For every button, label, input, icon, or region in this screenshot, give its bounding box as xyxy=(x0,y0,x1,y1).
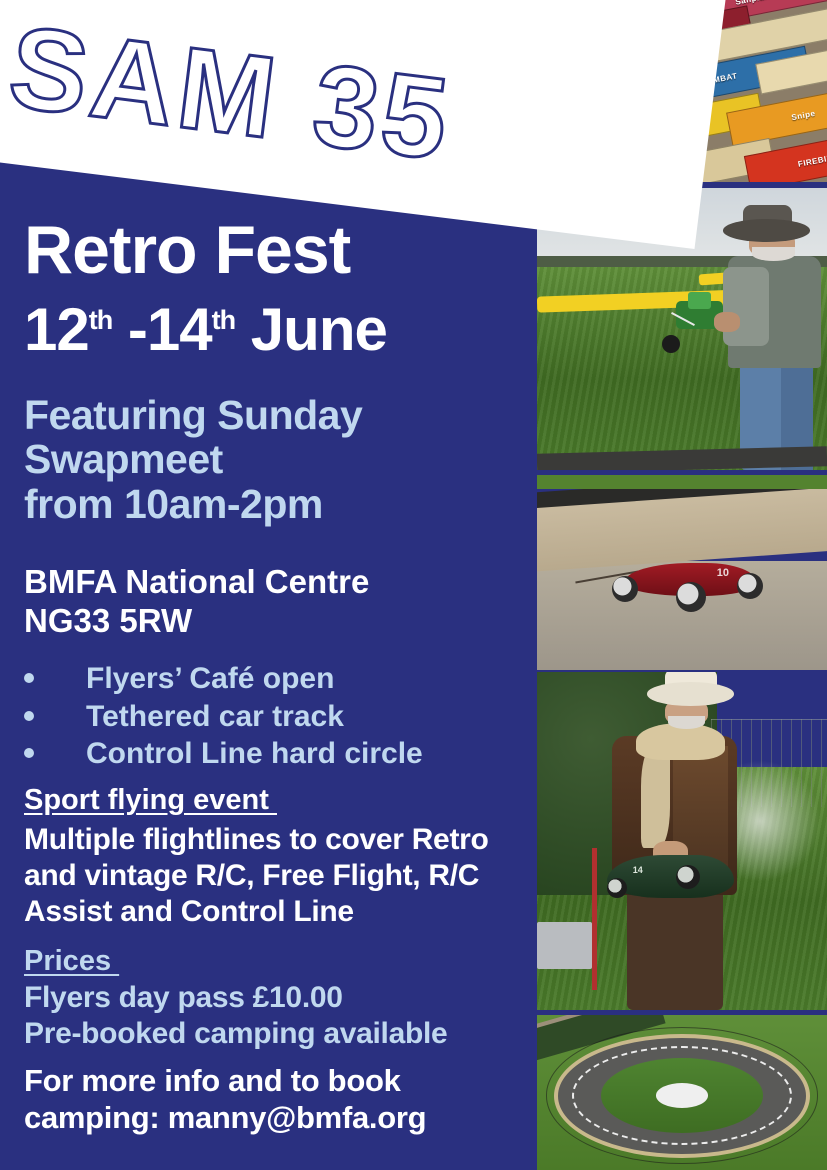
date-month: June xyxy=(235,296,387,363)
venue-address: BMFA National Centre NG33 5RW xyxy=(24,563,524,641)
date-from: 12 xyxy=(24,296,89,363)
bullet-icon xyxy=(24,711,34,721)
prices-heading: Prices xyxy=(24,945,119,978)
kit-label: Sailplane xyxy=(734,0,775,6)
kit-label: FIREBIRD xyxy=(797,152,827,169)
kit-label: Snipe xyxy=(791,109,817,122)
car-number: 14 xyxy=(633,865,643,875)
photo-red-tethered-race-car: 10 xyxy=(537,475,827,670)
date-to-ordinal: th xyxy=(212,305,235,335)
date-separator: - xyxy=(112,296,147,363)
list-item: Control Line hard circle xyxy=(24,735,524,773)
list-item-label: Control Line hard circle xyxy=(86,737,423,770)
sport-flying-description: Multiple flightlines to cover Retro and … xyxy=(24,822,524,930)
event-dates: 12th -14th June xyxy=(24,300,387,360)
track-marker-post xyxy=(592,848,597,990)
flyer-hat xyxy=(723,219,810,242)
facilities-list: Flyers’ Café open Tethered car track Con… xyxy=(24,660,524,773)
list-item: Tethered car track xyxy=(24,698,524,736)
contact-info: For more info and to book camping: manny… xyxy=(24,1062,524,1136)
content-column: Retro Fest 12th -14th June Featuring Sun… xyxy=(0,0,537,1170)
poster: Pacer Sailplane KeilKraft Kits VERON BOM… xyxy=(0,0,827,1170)
list-item-label: Tethered car track xyxy=(86,700,344,733)
photo-flyer-with-green-tethered-car: 14 xyxy=(537,672,827,1010)
bullet-icon xyxy=(24,748,34,758)
date-from-ordinal: th xyxy=(89,305,112,335)
car-number: 10 xyxy=(717,567,729,579)
featuring-swapmeet-text: Featuring Sunday Swapmeet from 10am-2pm xyxy=(24,393,524,526)
prices-details: Flyers day pass £10.00 Pre-booked campin… xyxy=(24,980,534,1052)
sport-flying-heading: Sport flying event xyxy=(24,784,277,817)
flyer-fedora xyxy=(647,682,734,706)
date-to: 14 xyxy=(147,296,212,363)
list-item-label: Flyers’ Café open xyxy=(86,662,334,695)
bullet-icon xyxy=(24,673,34,683)
page-title: Retro Fest xyxy=(24,216,350,284)
photo-control-line-hard-circle xyxy=(537,1015,827,1170)
list-item: Flyers’ Café open xyxy=(24,660,524,698)
